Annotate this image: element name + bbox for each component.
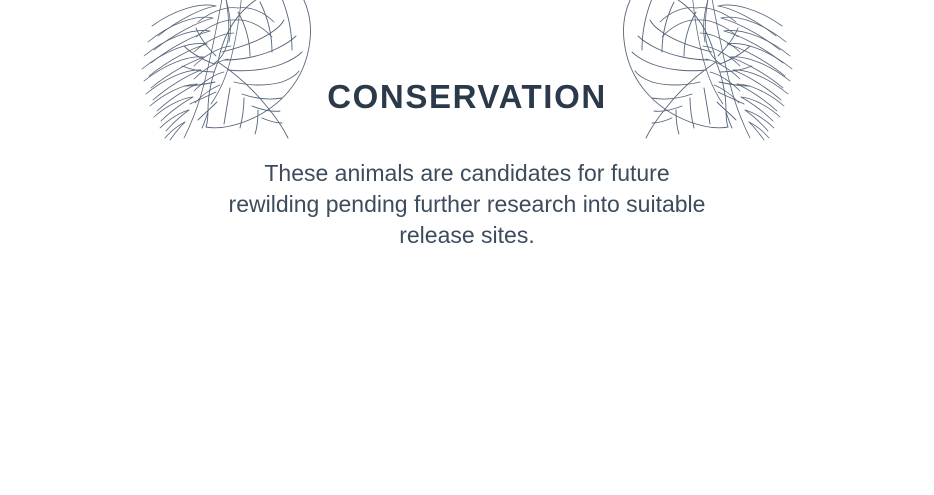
palm-frond-icon xyxy=(704,0,792,140)
botanical-illustration-right xyxy=(622,0,822,145)
page-title: CONSERVATION xyxy=(0,79,934,115)
palm-frond-icon xyxy=(142,0,230,140)
monstera-leaf-icon xyxy=(624,0,753,138)
body-paragraph: These animals are candidates for future … xyxy=(217,158,717,251)
slide-canvas: CONSERVATION These animals are candidate… xyxy=(0,0,934,495)
monstera-leaf-icon xyxy=(182,0,311,138)
botanical-illustration-left xyxy=(112,0,312,145)
